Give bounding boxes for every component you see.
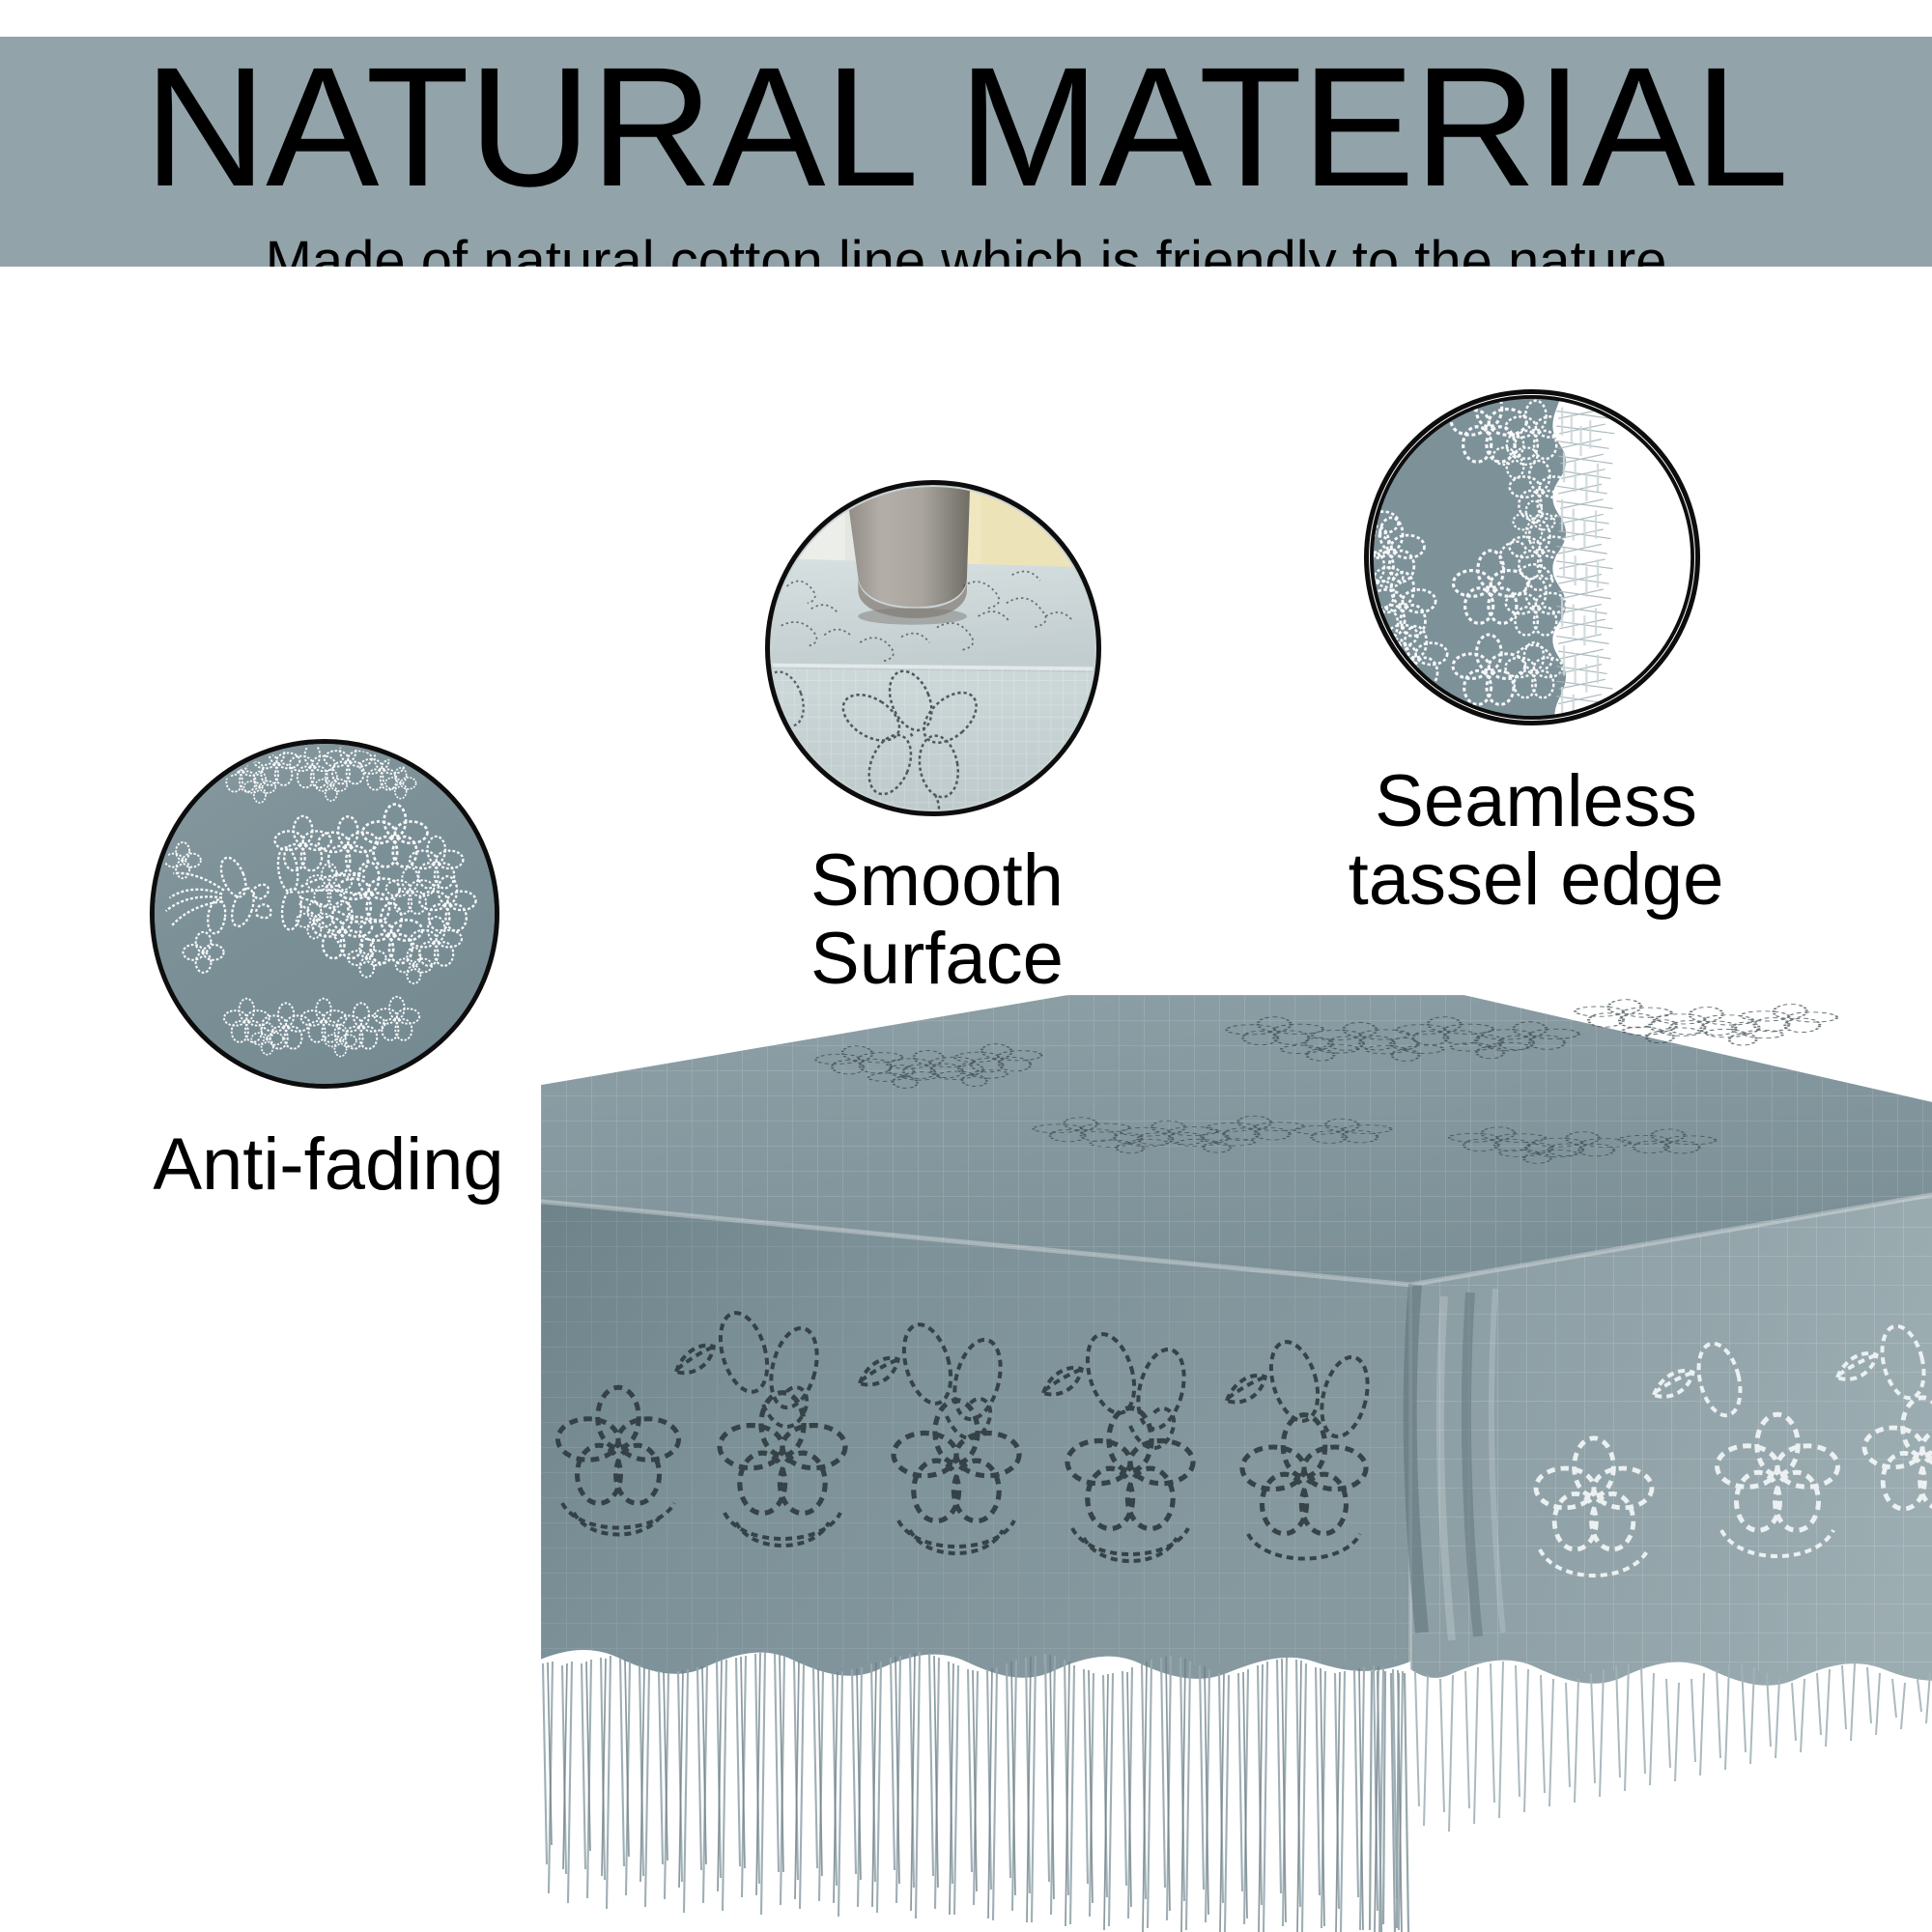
cup-on-tablecloth-photo xyxy=(770,485,1096,811)
callout-circle-anti-fading xyxy=(150,739,499,1089)
callout-circle-tassel-edge xyxy=(1364,389,1700,725)
header-banner: NATURAL MATERIAL Made of natural cotton … xyxy=(0,37,1932,267)
callout-circle-smooth-surface xyxy=(765,480,1101,816)
callout-label-smooth-surface: Smooth Surface xyxy=(715,842,1159,998)
page-title: NATURAL MATERIAL xyxy=(144,43,1788,213)
tablecloth-on-table-illustration xyxy=(541,995,1932,1932)
lace-floral-pattern-icon xyxy=(155,744,495,1084)
product-photo xyxy=(541,995,1932,1932)
page-subtitle: Made of natural cotton line which is fri… xyxy=(266,234,1667,267)
tassel-edge-closeup xyxy=(1369,394,1695,721)
callout-label-anti-fading: Anti-fading xyxy=(58,1126,599,1205)
callout-label-tassel-edge: Seamless tassel edge xyxy=(1285,763,1787,919)
